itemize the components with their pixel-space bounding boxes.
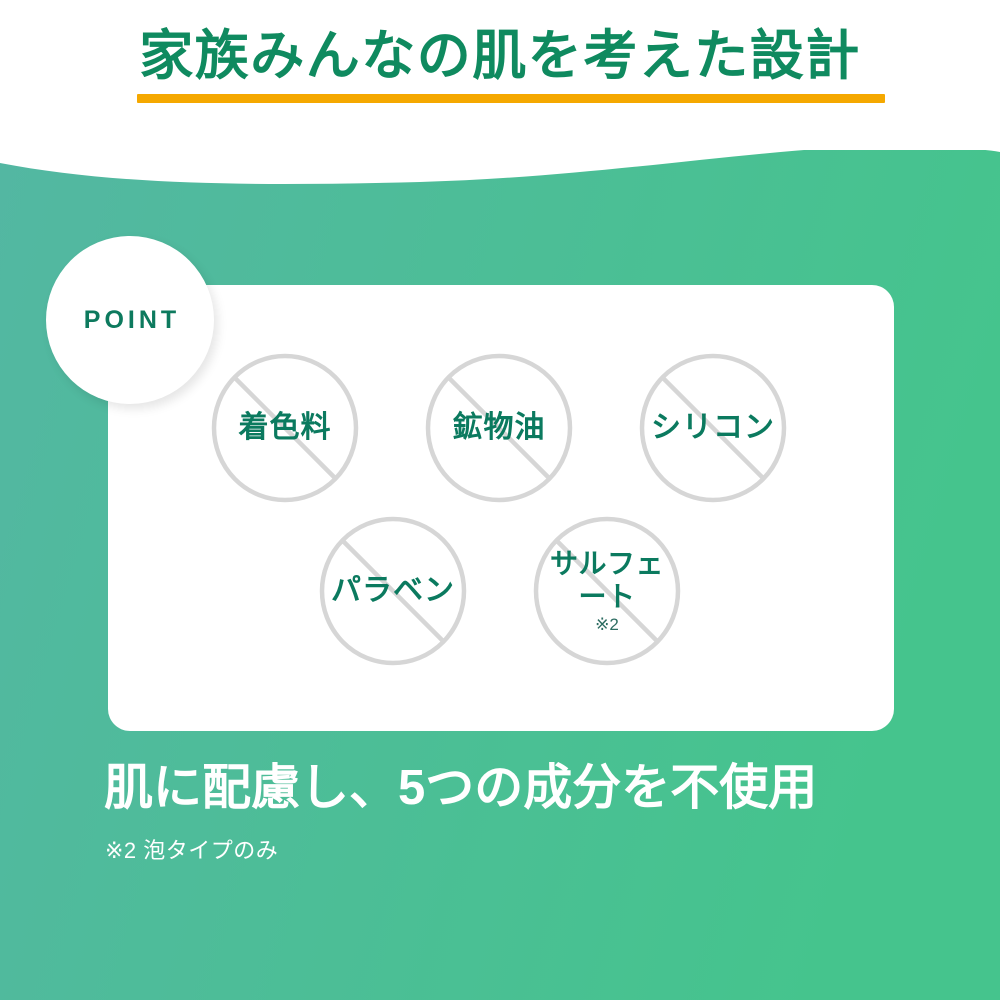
point-badge: POINT	[46, 236, 214, 404]
circle-label: 着色料	[211, 353, 359, 503]
header-band: 家族みんなの肌を考えた設計	[0, 0, 1000, 150]
circle-label: 鉱物油	[425, 353, 573, 503]
circle-label-text: パラベン	[331, 575, 455, 607]
circle-label-text: 鉱物油	[453, 412, 546, 444]
title-underline	[137, 94, 885, 103]
no-ingredient-silicone: シリコン	[639, 353, 787, 503]
circle-label-text-line2: ート	[578, 581, 635, 613]
circle-label-text-line1: サルフェ	[550, 548, 664, 580]
no-ingredient-sulfate: サルフェ ート ※2	[533, 516, 681, 666]
no-ingredient-koubutsuyu: 鉱物油	[425, 353, 573, 503]
no-ingredient-chakushokuryo: 着色料	[211, 353, 359, 503]
promo-graphic: 家族みんなの肌を考えた設計 POINT 着色料 鉱物油 シ	[0, 0, 1000, 1000]
circle-label-text: シリコン	[651, 412, 775, 444]
content-card	[108, 285, 894, 731]
circle-label-footnote: ※2	[595, 616, 619, 634]
page-title: 家族みんなの肌を考えた設計	[0, 27, 1000, 86]
circle-label: パラベン	[319, 516, 467, 666]
circle-label: シリコン	[639, 353, 787, 503]
footer-headline: 肌に配慮し、5つの成分を不使用	[104, 760, 817, 816]
circle-label-text: 着色料	[239, 412, 332, 444]
footer-note: ※2 泡タイプのみ	[105, 833, 278, 865]
point-badge-label: POINT	[80, 306, 180, 335]
no-ingredient-paraben: パラベン	[319, 516, 467, 666]
circle-label: サルフェ ート ※2	[533, 516, 681, 666]
